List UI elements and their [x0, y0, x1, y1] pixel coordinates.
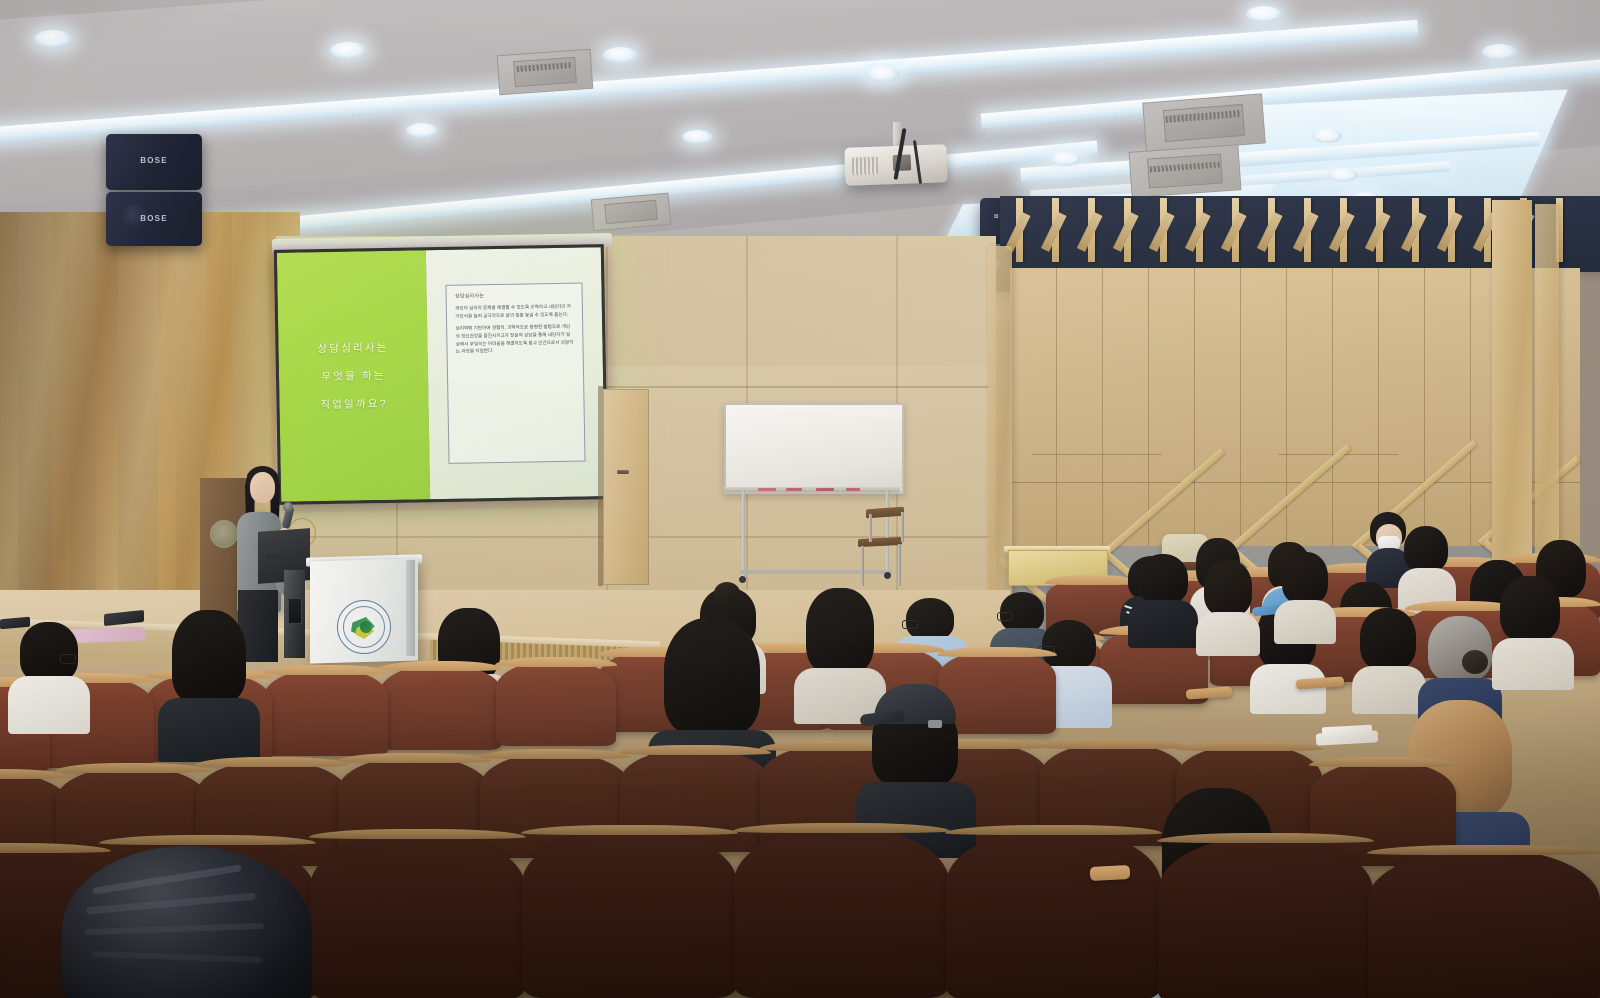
hair — [1360, 608, 1416, 670]
seat[interactable] — [496, 660, 616, 746]
lecture-hall-photo: BOSE BOSE BOSE BOSE BOSE — [0, 0, 1600, 998]
side-door[interactable] — [603, 389, 649, 585]
projection-screen: 상담심리사는 무엇을 하는 직업일까요? 상담심리사는 개인의 심리적 문제를 … — [274, 244, 608, 505]
hair — [1042, 620, 1096, 670]
marker-icon — [816, 488, 834, 491]
seat[interactable] — [1158, 836, 1373, 998]
torso — [1196, 612, 1260, 656]
seat[interactable] — [264, 668, 388, 756]
slide-left-panel: 상담심리사는 무엇을 하는 직업일까요? — [277, 250, 430, 502]
glasses-icon — [60, 654, 76, 664]
hair-bun-icon — [714, 582, 740, 604]
wall-crest-icon — [210, 520, 238, 548]
torso — [1128, 600, 1198, 648]
seat[interactable] — [734, 826, 949, 998]
glasses-icon — [997, 612, 1012, 621]
downlight-icon — [1050, 152, 1081, 166]
glasses-icon — [902, 620, 918, 629]
seat[interactable] — [946, 828, 1161, 998]
hair — [172, 610, 246, 704]
downlight-icon — [1328, 168, 1358, 182]
marker-icon — [846, 488, 860, 491]
whiteboard-leg — [886, 490, 889, 574]
slide-question-line-2: 무엇을 하는 — [321, 368, 386, 384]
slide-heading: 상담심리사는 — [455, 291, 574, 300]
slide-right-panel: 상담심리사는 개인의 심리적 문제를 해결할 수 있도록 조력하고 내담자의 자… — [426, 247, 605, 499]
downlight-icon — [1246, 6, 1282, 22]
seat[interactable] — [1368, 848, 1600, 998]
downlight-icon — [682, 130, 713, 144]
university-crest-icon — [337, 600, 391, 654]
marker-icon — [758, 488, 776, 491]
air-conditioner-vent — [1142, 93, 1266, 152]
slide-content: 상담심리사는 무엇을 하는 직업일까요? 상담심리사는 개인의 심리적 문제를 … — [277, 247, 605, 502]
whiteboard-marker-tray — [724, 487, 900, 492]
seat[interactable] — [938, 650, 1056, 734]
chair-leg — [901, 512, 904, 542]
seat[interactable] — [310, 832, 525, 998]
slide-question-line-1: 상담심리사는 — [317, 340, 388, 356]
chair-leg — [869, 514, 872, 542]
slide-question-line-3: 직업일까요? — [320, 396, 388, 412]
whiteboard — [724, 403, 904, 494]
chair-leg — [898, 544, 901, 586]
marker-icon — [786, 488, 802, 491]
downlight-icon — [34, 30, 72, 48]
slide-paragraph-2: 심리학에 기반하여 경험적, 과학적으로 증명된 방법으로 개인의 정신건강을 … — [455, 323, 574, 356]
hair — [1428, 616, 1492, 682]
torso — [8, 676, 90, 734]
whiteboard-leg — [742, 490, 745, 578]
air-conditioner-vent — [591, 193, 671, 232]
torso — [1352, 666, 1426, 714]
bose-speaker: BOSE — [106, 134, 202, 190]
podium-control-panel[interactable] — [288, 598, 302, 624]
hair — [1138, 554, 1188, 604]
seat[interactable] — [380, 664, 502, 750]
hair — [906, 598, 954, 640]
cap-buckle-icon — [928, 720, 942, 728]
presenter-head — [250, 472, 275, 503]
downlight-icon — [330, 42, 366, 59]
downlight-icon — [866, 66, 900, 82]
torso — [1250, 664, 1326, 714]
downlight-icon — [603, 47, 638, 63]
slide-paragraph-1: 개인의 심리적 문제를 해결할 수 있도록 조력하고 내담자의 자기인식을 높여… — [455, 303, 574, 320]
seat[interactable] — [522, 828, 737, 998]
whiteboard-foot — [740, 570, 892, 574]
whiteboard-caster — [884, 572, 891, 579]
air-conditioner-vent — [1129, 144, 1242, 198]
hair — [1404, 526, 1448, 572]
hair — [664, 618, 760, 736]
hair — [1500, 576, 1560, 642]
bose-speaker: BOSE — [106, 192, 202, 246]
hair — [806, 588, 874, 674]
seat-armrest — [1090, 865, 1131, 881]
whiteboard-caster — [739, 576, 746, 583]
hair — [1204, 560, 1252, 616]
microphone-head-icon — [283, 502, 293, 512]
hair-bun-icon — [1462, 650, 1488, 674]
door-handle-icon[interactable] — [617, 470, 629, 474]
chair-leg — [861, 546, 864, 586]
hair — [20, 622, 78, 682]
downlight-icon — [406, 123, 438, 138]
downlight-icon — [1482, 44, 1517, 60]
slide-text-box: 상담심리사는 개인의 심리적 문제를 해결할 수 있도록 조력하고 내담자의 자… — [446, 282, 586, 464]
torso — [1492, 638, 1574, 690]
hair — [1282, 552, 1328, 604]
air-conditioner-vent — [497, 49, 594, 95]
torso — [158, 698, 260, 762]
downlight-icon — [1312, 129, 1342, 143]
torso — [1274, 600, 1336, 644]
podium-side-panel — [406, 560, 415, 656]
